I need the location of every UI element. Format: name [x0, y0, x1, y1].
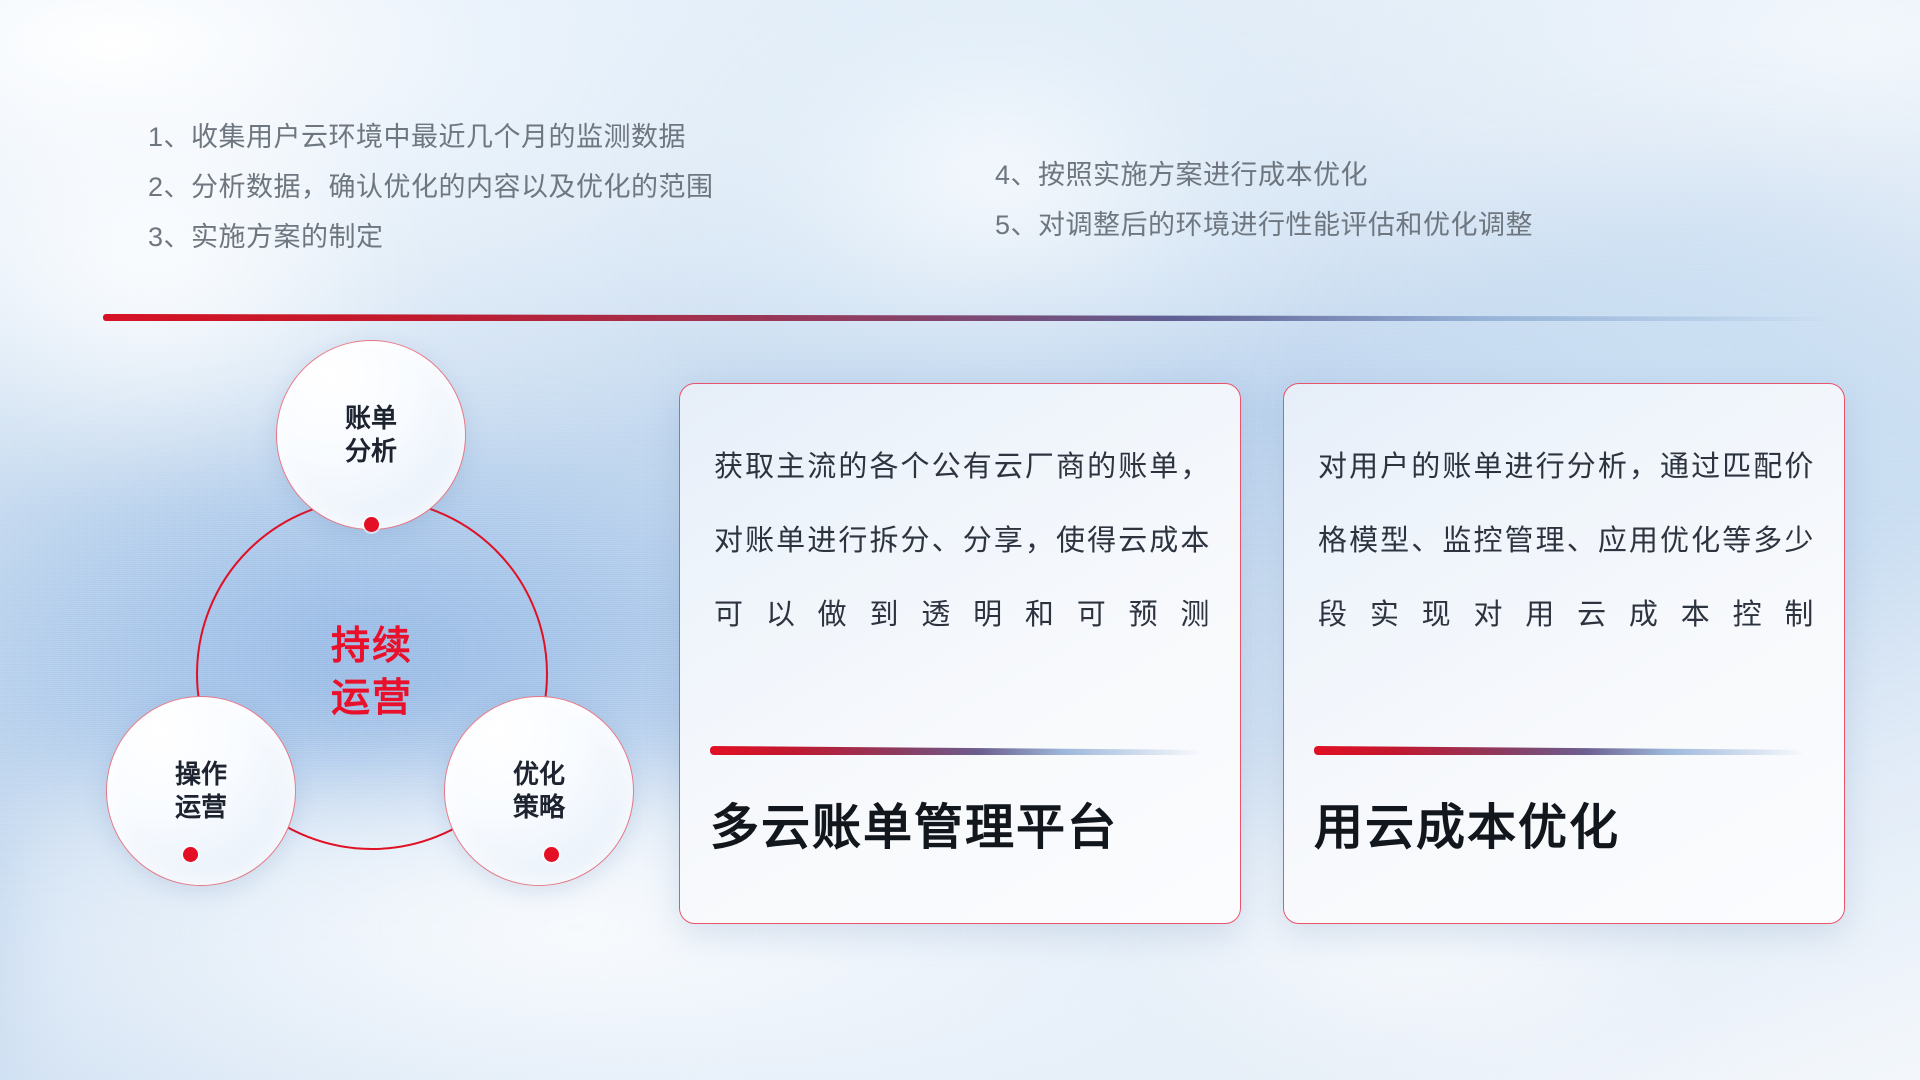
venn-node-dot-right [544, 847, 559, 862]
venn-center-label-line2: 运营 [331, 673, 413, 725]
step-item: 2、分析数据，确认优化的内容以及优化的范围 [148, 162, 714, 212]
venn-bubble-bill-analysis[interactable]: 账单 分析 [276, 340, 466, 530]
venn-bubble-optimization-strategy[interactable]: 优化 策略 [444, 696, 634, 886]
step-item: 3、实施方案的制定 [148, 212, 714, 262]
venn-bubble-operations[interactable]: 操作 运营 [106, 696, 296, 886]
steps-list-left: 1、收集用户云环境中最近几个月的监测数据 2、分析数据，确认优化的内容以及优化的… [148, 112, 714, 262]
venn-bubble-label-line1: 操作 [175, 758, 227, 791]
feature-card-title: 多云账单管理平台 [710, 788, 1216, 859]
feature-card-cost-optimization[interactable]: 对用户的账单进行分析，通过匹配价格模型、监控管理、应用优化等多少段实现对用云成本… [1283, 383, 1845, 924]
venn-bubble-label-line2: 运营 [175, 791, 227, 824]
feature-card-multicloud-billing[interactable]: 获取主流的各个公有云厂商的账单，对账单进行拆分、分享，使得云成本可以做到透明和可… [679, 383, 1241, 924]
venn-node-dot-top [364, 517, 379, 532]
section-divider-line [103, 314, 1833, 321]
feature-card-title: 用云成本优化 [1314, 788, 1820, 859]
step-item: 1、收集用户云环境中最近几个月的监测数据 [148, 112, 714, 162]
feature-card-description: 获取主流的各个公有云厂商的账单，对账单进行拆分、分享，使得云成本可以做到透明和可… [714, 430, 1210, 652]
venn-bubble-label-line1: 账单 [345, 402, 397, 435]
venn-node-dot-left [183, 847, 198, 862]
slide-content: 1、收集用户云环境中最近几个月的监测数据 2、分析数据，确认优化的内容以及优化的… [0, 0, 1920, 1080]
venn-bubble-label-line1: 优化 [513, 758, 565, 791]
venn-bubble-label-line2: 策略 [513, 791, 565, 824]
venn-diagram: 账单 分析 操作 运营 优化 策略 持续 运营 [96, 348, 656, 928]
feature-card-accent-rule [710, 746, 1202, 755]
venn-center-label: 持续 运营 [276, 588, 468, 758]
feature-card-accent-rule [1314, 746, 1806, 755]
venn-bubble-label-line2: 分析 [345, 435, 397, 468]
step-item: 4、按照实施方案进行成本优化 [995, 150, 1533, 200]
step-item: 5、对调整后的环境进行性能评估和优化调整 [995, 200, 1533, 250]
steps-list-right: 4、按照实施方案进行成本优化 5、对调整后的环境进行性能评估和优化调整 [995, 150, 1533, 250]
feature-card-description: 对用户的账单进行分析，通过匹配价格模型、监控管理、应用优化等多少段实现对用云成本… [1318, 430, 1814, 652]
venn-center-label-line1: 持续 [331, 621, 413, 673]
